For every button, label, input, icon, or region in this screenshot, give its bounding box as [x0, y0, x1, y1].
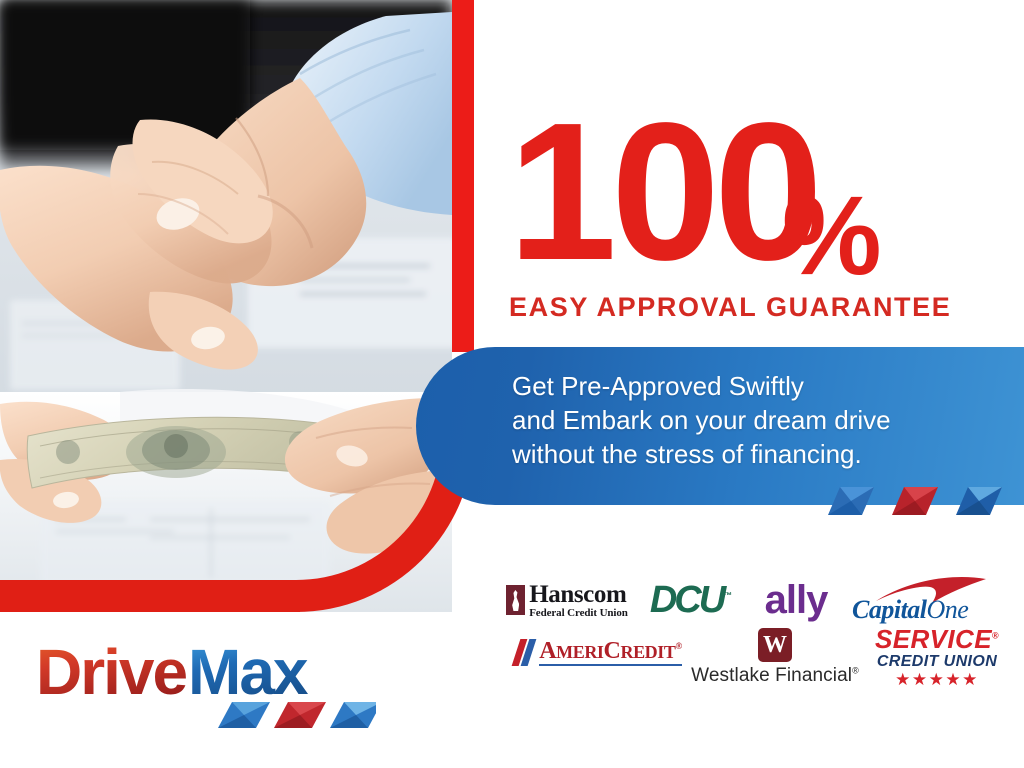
promo-banner: Get Pre-Approved Swiftly and Embark on y… — [416, 347, 1024, 505]
americredit-registered: ® — [675, 641, 681, 651]
chevron-blue-2-icon — [956, 487, 1002, 515]
advertisement-banner: 100 % EASY APPROVAL GUARANTEE Get Pre-Ap… — [0, 0, 1024, 768]
promo-line-3: without the stress of financing. — [512, 437, 891, 471]
americredit-slashes-icon — [516, 639, 534, 666]
percent-sign-icon: % — [782, 180, 882, 292]
service-cu-name: SERVICE — [875, 624, 992, 654]
promo-line-1: Get Pre-Approved Swiftly — [512, 369, 891, 403]
service-cu-registered: ® — [992, 630, 999, 640]
westlake-registered: ® — [852, 665, 859, 675]
drivemax-logo[interactable]: Drive Max — [36, 636, 376, 736]
red-bottom-bar — [0, 580, 300, 612]
capital-one-name2: One — [927, 595, 969, 624]
dcu-trademark: ™ — [723, 590, 732, 600]
lender-logo-grid: Hanscom Federal Credit Union DCU™ ally C… — [494, 570, 1014, 700]
drivemax-chevrons-icon — [218, 702, 376, 728]
logo-americredit: AMERICREDIT® — [504, 632, 694, 672]
promo-banner-text: Get Pre-Approved Swiftly and Embark on y… — [512, 369, 891, 471]
chevron-blue-1-icon — [828, 487, 874, 515]
hanscom-name: Hanscom — [529, 582, 628, 607]
americredit-a: A — [539, 638, 556, 664]
dcu-name: DCU — [650, 579, 723, 621]
headline-block: 100 % EASY APPROVAL GUARANTEE — [494, 108, 914, 286]
logo-westlake-financial: W Westlake Financial® — [690, 626, 860, 688]
service-cu-subtitle: CREDIT UNION — [875, 654, 999, 670]
hanscom-subtitle: Federal Credit Union — [529, 608, 628, 619]
percent-row: 100 % — [494, 108, 914, 286]
chevron-stripes — [828, 487, 1008, 517]
logo-capital-one: CapitalOne — [846, 574, 1006, 624]
logo-hanscom: Hanscom Federal Credit Union — [502, 578, 632, 622]
westlake-mark-letter: W — [763, 633, 787, 657]
capital-one-name: Capital — [852, 595, 927, 624]
americredit-rule — [539, 664, 682, 666]
westlake-w-mark-icon: W — [758, 628, 792, 662]
westlake-name: Westlake Financial — [691, 665, 852, 686]
red-vertical-divider — [452, 0, 474, 352]
logo-ally: ally — [750, 578, 842, 622]
americredit-c: C — [604, 638, 621, 664]
ally-name: ally — [765, 578, 828, 623]
logo-dcu: DCU™ — [642, 578, 740, 622]
drivemax-wordmark: Drive Max — [36, 636, 376, 736]
drivemax-max-text: Max — [188, 636, 309, 708]
promo-line-2: and Embark on your dream drive — [512, 403, 891, 437]
americredit-meri: MERI — [556, 642, 603, 662]
headline-number: 100 — [508, 94, 817, 290]
chevron-red-icon — [892, 487, 938, 515]
drivemax-drive-text: Drive — [36, 636, 187, 708]
minuteman-icon — [506, 585, 525, 615]
americredit-redit: REDIT — [620, 642, 675, 662]
headline-subtitle: EASY APPROVAL GUARANTEE — [509, 292, 951, 323]
service-cu-stars-icon: ★★★★★ — [875, 671, 999, 688]
logo-service-credit-union: SERVICE® CREDIT UNION ★★★★★ — [872, 628, 1002, 686]
